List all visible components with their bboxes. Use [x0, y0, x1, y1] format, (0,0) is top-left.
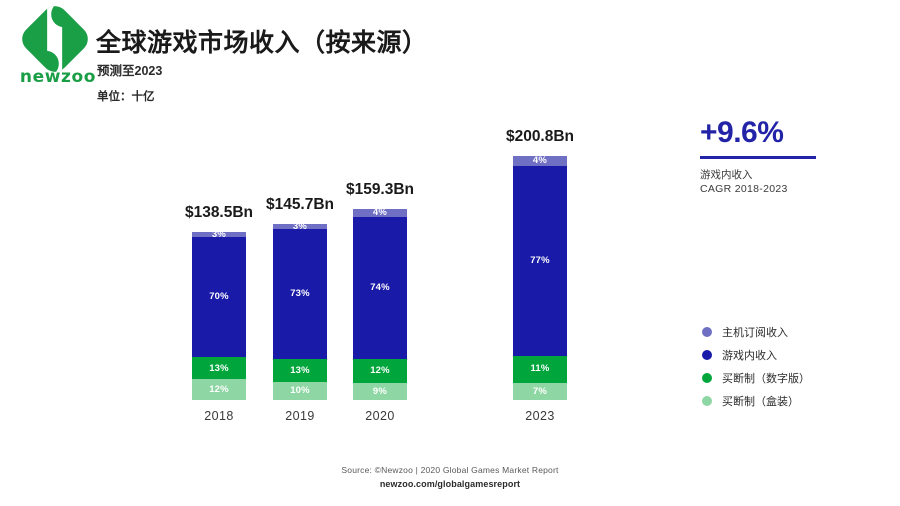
legend-item-1[interactable]: 游戏内收入 [702, 343, 892, 366]
bar-segment[interactable]: 4% [513, 156, 567, 166]
chart-legend: 主机订阅收入游戏内收入买断制（数字版）买断制（盒装） [702, 320, 892, 412]
bar-segment[interactable]: 12% [192, 379, 246, 400]
bar-stack[interactable]: 3%70%13%12% [192, 232, 246, 400]
source-url: newzoo.com/globalgamesreport [0, 479, 900, 489]
bar-total-label: $159.3Bn [300, 181, 460, 199]
bar-segment[interactable]: 9% [353, 383, 407, 400]
bar-segment[interactable]: 13% [273, 359, 327, 382]
bar-segment-label: 73% [290, 289, 310, 299]
bar-segment-label: 10% [290, 386, 310, 396]
bar-stack[interactable]: 4%74%12%9% [353, 209, 407, 400]
cagr-description-primary: 游戏内收入 [700, 168, 880, 182]
bar-segment[interactable]: 13% [192, 357, 246, 379]
cagr-value: +9.6% [700, 118, 880, 148]
bar-segment-label: 70% [209, 292, 229, 302]
legend-item-label: 游戏内收入 [722, 347, 777, 363]
cagr-stat-panel: +9.6% 游戏内收入 CAGR 2018-2023 [700, 118, 880, 196]
bar-segment[interactable]: 12% [353, 359, 407, 382]
bar-segment-label: 9% [373, 387, 387, 397]
bar-stack[interactable]: 3%73%13%10% [273, 224, 327, 400]
legend-item-2[interactable]: 买断制（数字版） [702, 366, 892, 389]
source-attribution: Source: ©Newzoo | 2020 Global Games Mark… [0, 465, 900, 475]
bar-segment-label: 74% [370, 283, 390, 293]
bar-group-2018: $138.5Bn3%70%13%12%2018 [192, 0, 246, 506]
bar-stack[interactable]: 4%77%11%7% [513, 156, 567, 400]
legend-color-swatch-icon [702, 327, 712, 337]
bar-segment[interactable]: 74% [353, 217, 407, 360]
cagr-divider [700, 156, 816, 159]
bar-group-2023: $200.8Bn4%77%11%7%2023 [513, 0, 567, 506]
bar-segment-label: 13% [290, 366, 310, 376]
bar-segment[interactable]: 70% [192, 237, 246, 357]
cagr-description-secondary: CAGR 2018-2023 [700, 182, 880, 196]
bar-group-2020: $159.3Bn4%74%12%9%2020 [353, 0, 407, 506]
bar-segment-label: 11% [530, 364, 549, 374]
bar-segment[interactable]: 11% [513, 356, 567, 383]
legend-color-swatch-icon [702, 373, 712, 383]
bar-segment[interactable]: 4% [353, 209, 407, 217]
bar-segment-label: 12% [370, 366, 390, 376]
legend-item-label: 买断制（盒装） [722, 393, 799, 409]
x-axis-label-2020: 2020 [320, 409, 440, 423]
legend-item-label: 买断制（数字版） [722, 370, 810, 386]
legend-color-swatch-icon [702, 350, 712, 360]
bar-segment-label: 12% [209, 385, 229, 395]
legend-item-3[interactable]: 买断制（盒装） [702, 389, 892, 412]
bar-segment-label: 13% [209, 364, 229, 374]
legend-item-0[interactable]: 主机订阅收入 [702, 320, 892, 343]
bar-segment-label: 7% [533, 387, 547, 397]
x-axis-label-2023: 2023 [480, 409, 600, 423]
bar-segment-label: 77% [530, 256, 550, 266]
stacked-bar-chart: $138.5Bn3%70%13%12%2018$145.7Bn3%73%13%1… [0, 0, 660, 506]
bar-segment[interactable]: 73% [273, 229, 327, 359]
bar-group-2019: $145.7Bn3%73%13%10%2019 [273, 0, 327, 506]
legend-color-swatch-icon [702, 396, 712, 406]
bar-segment[interactable]: 7% [513, 383, 567, 400]
bar-total-label: $200.8Bn [460, 128, 620, 146]
chart-footer: Source: ©Newzoo | 2020 Global Games Mark… [0, 465, 900, 489]
bar-segment[interactable]: 10% [273, 382, 327, 400]
legend-item-label: 主机订阅收入 [722, 324, 788, 340]
bar-segment-label: 4% [533, 156, 547, 166]
bar-segment[interactable]: 77% [513, 166, 567, 356]
